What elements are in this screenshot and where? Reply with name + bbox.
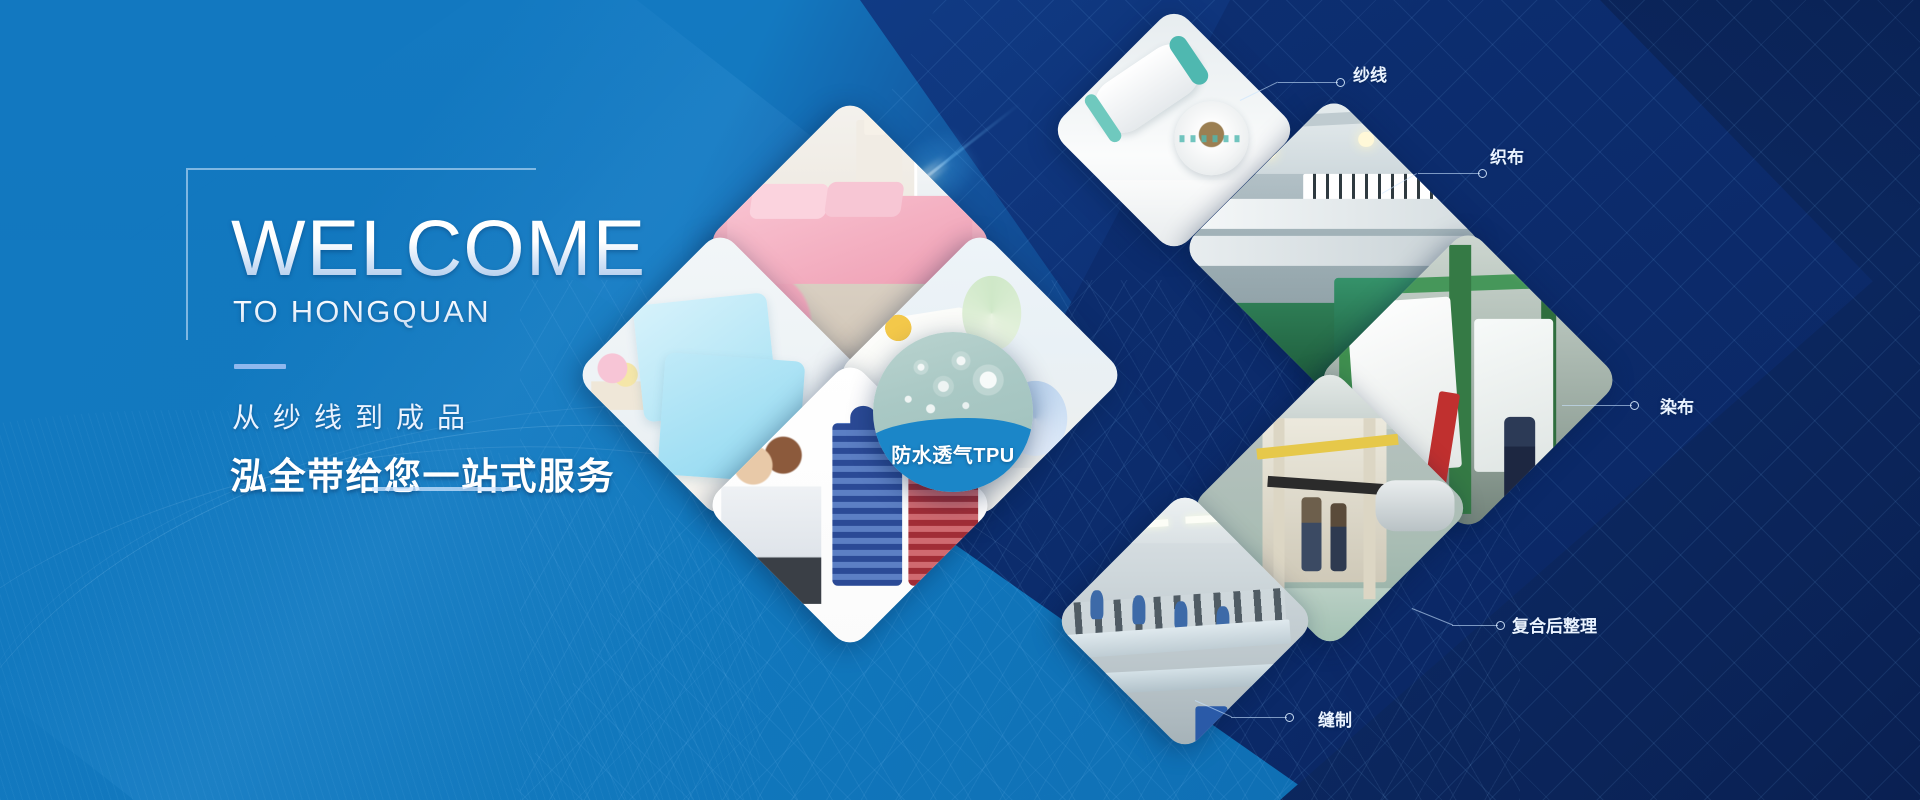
label-weaving: 织布	[1490, 143, 1524, 168]
page-subtitle: TO HONGQUAN	[233, 294, 491, 330]
label-yarn: 纱线	[1353, 61, 1387, 86]
accent-rule	[234, 364, 286, 369]
center-badge[interactable]: 防水透气TPU	[873, 332, 1033, 492]
tagline: 从纱线到成品	[232, 396, 478, 436]
center-badge-label: 防水透气TPU	[873, 439, 1033, 468]
banner-stage: WELCOME TO HONGQUAN 从纱线到成品 泓全带给您一站式服务	[0, 0, 1920, 800]
label-dyeing: 染布	[1660, 393, 1694, 418]
page-title: WELCOME	[231, 210, 646, 285]
headline-cn: 泓全带给您一站式服务	[230, 446, 615, 500]
label-sewing: 缝制	[1318, 706, 1352, 731]
label-finishing: 复合后整理	[1512, 612, 1597, 637]
bottom-underline-decoration	[372, 487, 517, 491]
